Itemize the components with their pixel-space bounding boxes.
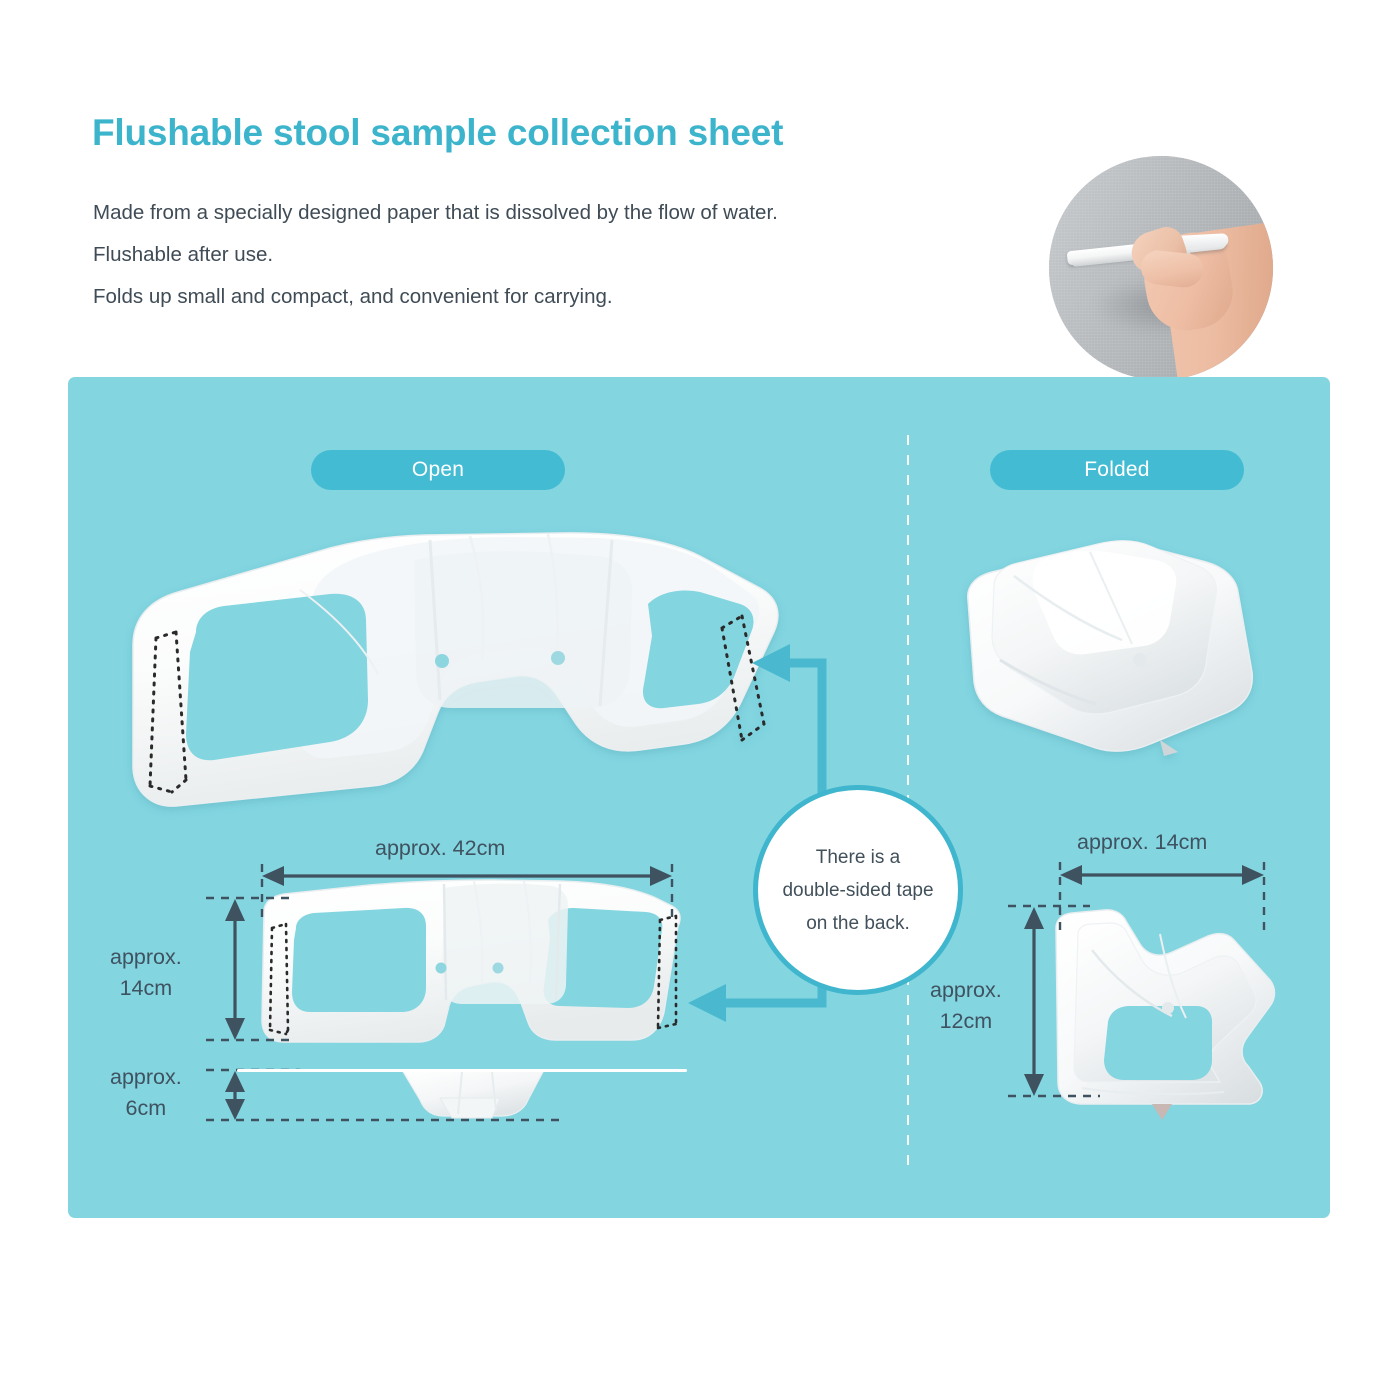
dimension-label-open-depth-l2: 6cm — [110, 1093, 182, 1124]
tab-folded-label: Folded — [1084, 458, 1149, 482]
callout-bubble: There is a double-sided tape on the back… — [753, 785, 963, 995]
dimension-label-folded-width: approx. 14cm — [1077, 827, 1207, 858]
callout-line-3: on the back. — [806, 907, 910, 940]
tab-open-label: Open — [412, 458, 464, 482]
description-line-1: Made from a specially designed paper tha… — [93, 192, 778, 234]
dimension-label-folded-height: approx. 12cm — [930, 975, 1002, 1037]
dimension-label-open-height: approx. 14cm — [110, 942, 182, 1004]
tab-folded[interactable]: Folded — [990, 450, 1244, 490]
page-title: Flushable stool sample collection sheet — [92, 112, 783, 154]
dimension-label-open-depth-l1: approx. — [110, 1062, 182, 1093]
description-line-2: Flushable after use. — [93, 234, 778, 276]
dimension-label-folded-height-l2: 12cm — [930, 1006, 1002, 1037]
dimension-label-open-height-l2: 14cm — [110, 973, 182, 1004]
tab-open[interactable]: Open — [311, 450, 565, 490]
callout-line-1: There is a — [816, 841, 900, 874]
dimension-label-open-depth: approx. 6cm — [110, 1062, 182, 1124]
description-block: Made from a specially designed paper tha… — [93, 192, 778, 318]
callout-line-2: double-sided tape — [782, 874, 933, 907]
fold-reference-line — [237, 1069, 687, 1072]
dimension-label-open-width: approx. 42cm — [375, 833, 505, 864]
infographic-page: Flushable stool sample collection sheet … — [0, 0, 1400, 1400]
diagram-panel — [68, 377, 1330, 1218]
description-line-3: Folds up small and compact, and convenie… — [93, 276, 778, 318]
dimension-label-folded-height-l1: approx. — [930, 975, 1002, 1006]
dimension-label-open-height-l1: approx. — [110, 942, 182, 973]
hand-holding-sheet-photo — [1049, 156, 1273, 380]
